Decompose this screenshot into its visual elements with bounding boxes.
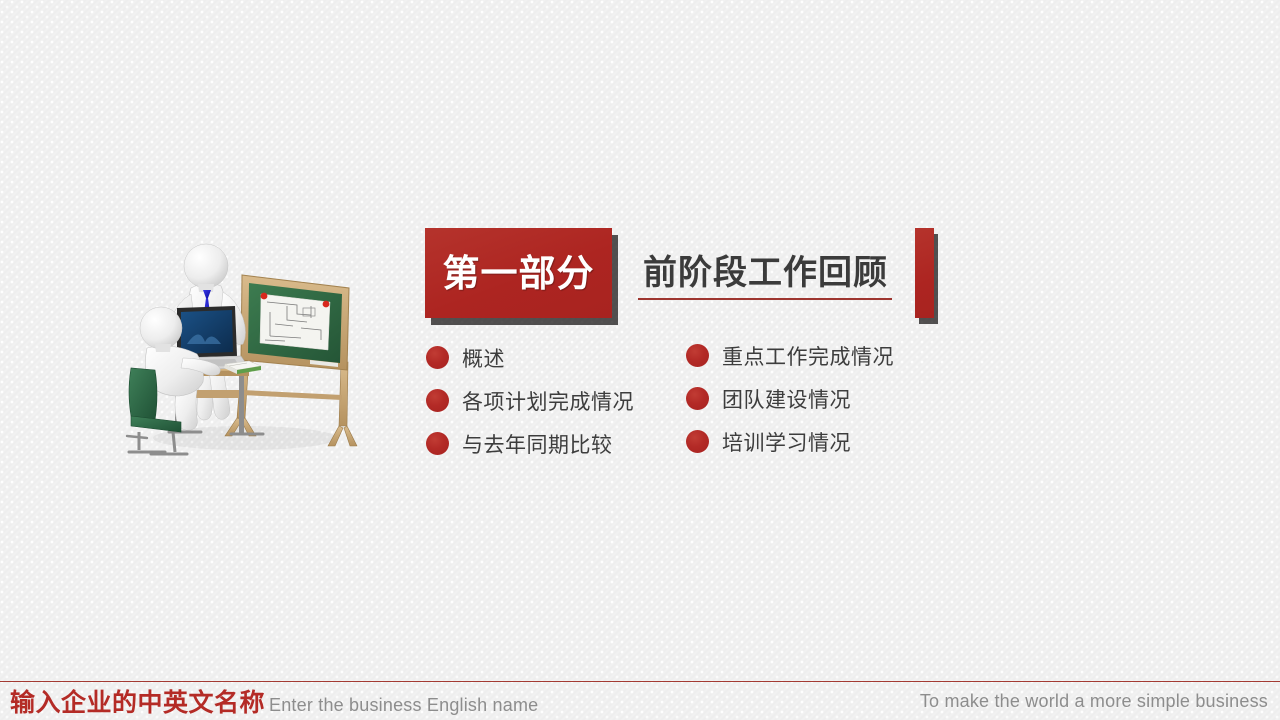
- list-item[interactable]: 重点工作完成情况: [686, 334, 946, 377]
- bullet-dot-icon: [426, 432, 449, 455]
- list-item[interactable]: 团队建设情况: [686, 377, 946, 420]
- bullet-dot-icon: [686, 387, 709, 410]
- list-item-label: 概述: [462, 343, 505, 373]
- section-number-label: 第一部分: [443, 255, 595, 292]
- list-item-label: 与去年同期比较: [462, 429, 613, 459]
- list-item[interactable]: 培训学习情况: [686, 420, 946, 463]
- list-item[interactable]: 各项计划完成情况: [426, 379, 676, 422]
- bullet-dot-icon: [686, 430, 709, 453]
- footer-company: 输入企业的中英文名称 Enter the business English na…: [10, 683, 538, 719]
- footer-tagline: To make the world a more simple business: [920, 691, 1268, 712]
- bullet-column-left: 概述 各项计划完成情况 与去年同期比较: [426, 336, 676, 465]
- list-item-label: 培训学习情况: [722, 427, 851, 457]
- slide-canvas: 第一部分 前阶段工作回顾 概述 各项计划完成情况 与去年同期比较 重点工作完成情…: [0, 0, 1280, 720]
- footer-company-cn: 输入企业的中英文名称: [10, 683, 265, 719]
- footer-company-en: Enter the business English name: [269, 695, 538, 716]
- bullet-dot-icon: [686, 344, 709, 367]
- bullet-column-right: 重点工作完成情况 团队建设情况 培训学习情况: [686, 334, 946, 463]
- slide-footer: 输入企业的中英文名称 Enter the business English na…: [0, 682, 1280, 720]
- list-item-label: 重点工作完成情况: [722, 341, 894, 371]
- list-item[interactable]: 与去年同期比较: [426, 422, 676, 465]
- section-title: 前阶段工作回顾: [643, 245, 903, 300]
- section-number-box: 第一部分: [425, 228, 612, 318]
- bullet-dot-icon: [426, 389, 449, 412]
- section-title-underline: [638, 298, 892, 300]
- list-item[interactable]: 概述: [426, 336, 676, 379]
- bullet-dot-icon: [426, 346, 449, 369]
- section-title-text: 前阶段工作回顾: [643, 256, 888, 290]
- pin-icon: [323, 301, 330, 308]
- accent-bar: [915, 228, 934, 318]
- list-item-label: 各项计划完成情况: [462, 386, 634, 416]
- pin-icon: [261, 293, 268, 300]
- list-item-label: 团队建设情况: [722, 384, 851, 414]
- office-training-illustration: [125, 240, 395, 465]
